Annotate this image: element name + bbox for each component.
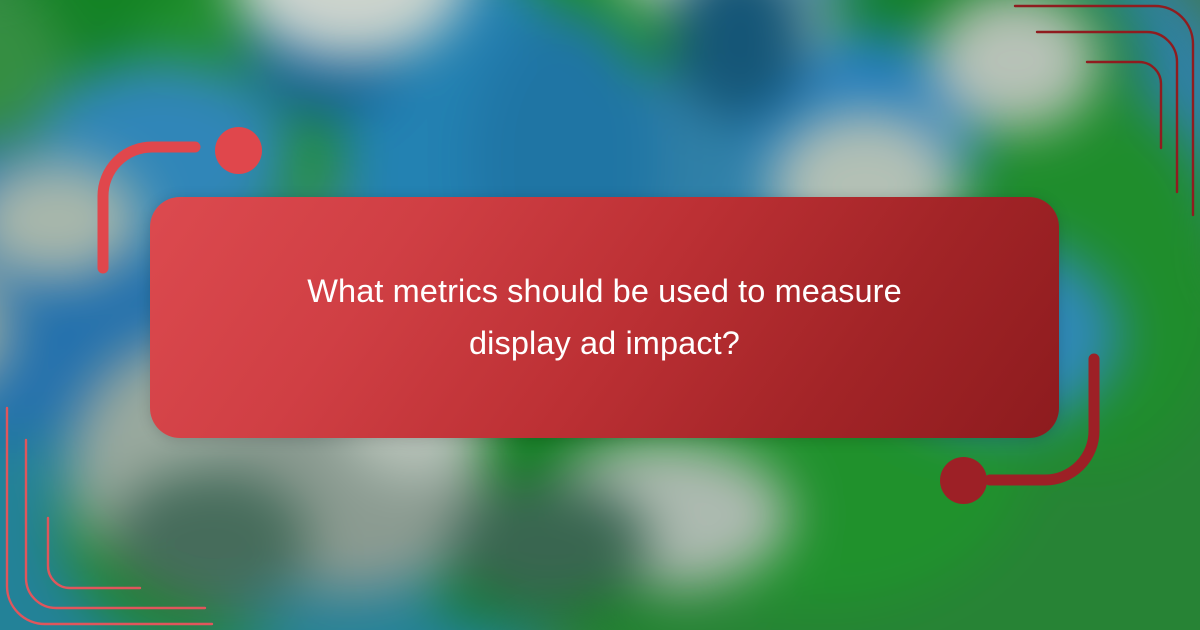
dot-bottom-right	[940, 457, 987, 504]
og-image-canvas: What metrics should be used to measure d…	[0, 0, 1200, 630]
corner-lines-top-right	[995, 0, 1200, 230]
question-card: What metrics should be used to measure d…	[150, 197, 1059, 438]
dot-top-left	[215, 127, 262, 174]
question-text: What metrics should be used to measure d…	[255, 266, 955, 369]
